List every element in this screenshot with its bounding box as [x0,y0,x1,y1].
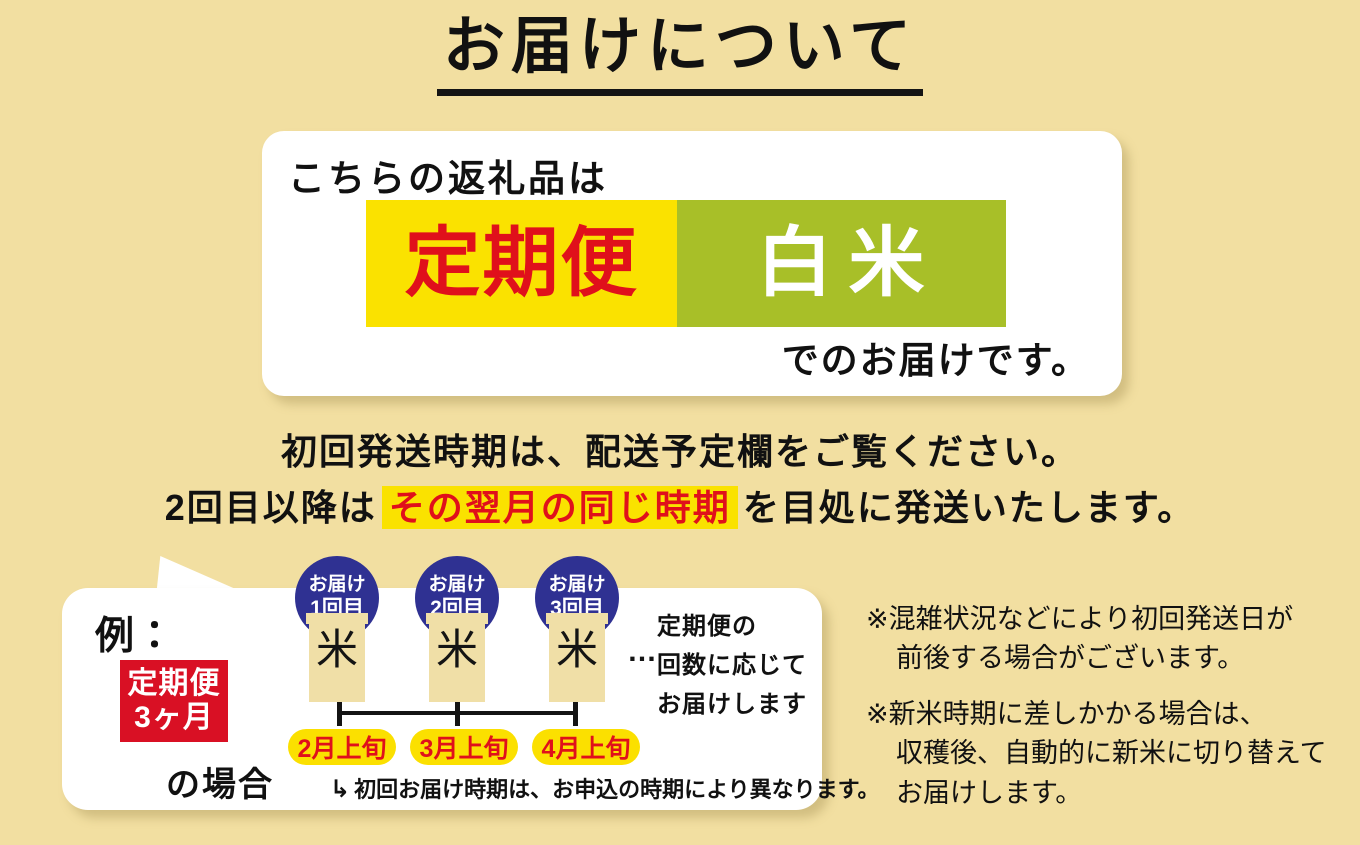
badge-row: 定期便 白米 [366,200,1006,327]
rice-bag-icon-1: 米 [306,613,368,702]
delivery-item-1: お届け 1回目 米 [292,556,382,704]
delivery-timeline [337,700,578,726]
badge-course: 定期便 [366,200,677,327]
shipping-line-2-after: を目処に発送いたします。 [743,487,1195,528]
example-course-line-1: 定期便 [128,667,221,701]
shipping-line-2: 2回目以降はその翌月の同じ時期を目処に発送いたします。 [0,480,1360,536]
ellipsis-icon: … [627,637,659,667]
poster-root: お届けについて こちらの返礼品は 定期便 白米 でのお届けです。 初回発送時期は… [0,0,1360,845]
card-lead-text: こちらの返礼品は [288,148,608,202]
timeline-tick-3 [573,700,578,726]
shipping-description: 初回発送時期は、配送予定欄をご覧ください。 2回目以降はその翌月の同じ時期を目処… [0,424,1360,536]
month-pill-1: 2月上旬 [288,729,396,765]
rice-bag-label-2: 米 [426,629,488,671]
gift-type-card: こちらの返礼品は 定期便 白米 でのお届けです。 [262,131,1122,396]
delivery-badge-3-line-1: お届け [548,574,605,596]
badge-rice-type: 白米 [677,200,1006,327]
note-item-2: ※新米時期に差しかかる場合は、 収穫後、自動的に新米に切り替えて お届けします。 [866,695,1336,813]
example-footnote: ↳初回お届け時期は、お申込の時期により異なります。 [330,772,879,804]
page-title-text: お届けについて [437,14,923,96]
example-label: 例： [95,605,175,661]
example-case-text: の場合 [166,757,274,806]
note-2-line-1: ※新米時期に差しかかる場合は、 [866,695,1336,734]
rice-bag-label-1: 米 [306,629,368,671]
note-1-line-2: 前後する場合がございます。 [866,639,1336,678]
timeline-tick-1 [337,700,342,726]
example-side-note-line-1: 定期便の [657,608,807,647]
rice-bag-icon-2: 米 [426,613,488,702]
month-pill-3: 4月上旬 [532,729,640,765]
notes-list: ※混雑状況などにより初回発送日が 前後する場合がございます。 ※新米時期に差しか… [866,600,1336,829]
delivery-badge-1-line-1: お届け [308,574,365,596]
note-2-line-2: 収穫後、自動的に新米に切り替えて [866,734,1336,773]
example-course-line-2: 3ヶ月 [134,701,214,735]
timeline-tick-2 [455,700,460,726]
example-side-note-line-2: 回数に応じて [657,647,807,686]
page-title: お届けについて [0,14,1360,96]
arrow-down-right-icon: ↳ [330,776,350,803]
shipping-line-1: 初回発送時期は、配送予定欄をご覧ください。 [0,424,1360,480]
rice-bag-icon-3: 米 [546,613,608,702]
note-2-line-3: お届けします。 [866,774,1336,813]
delivery-badge-2-line-1: お届け [428,574,485,596]
card-tail-text: でのお届けです。 [782,330,1090,384]
delivery-item-2: お届け 2回目 米 [412,556,502,704]
shipping-line-2-highlight: その翌月の同じ時期 [382,486,738,529]
example-footnote-text: 初回お届け時期は、お申込の時期により異なります。 [354,777,879,802]
delivery-sequence: お届け 1回目 米 お届け 2回目 米 お届け 3回目 [292,556,622,706]
shipping-line-2-before: 2回目以降は [165,487,377,528]
rice-bag-label-3: 米 [546,629,608,671]
note-item-1: ※混雑状況などにより初回発送日が 前後する場合がございます。 [866,600,1336,679]
example-side-note-line-3: お届けします [657,686,807,725]
note-1-line-1: ※混雑状況などにより初回発送日が [866,600,1336,639]
example-course-badge: 定期便 3ヶ月 [120,660,228,742]
delivery-item-3: お届け 3回目 米 [532,556,622,704]
month-pill-2: 3月上旬 [410,729,518,765]
example-side-note: 定期便の 回数に応じて お届けします [657,608,807,725]
month-pill-row: 2月上旬 3月上旬 4月上旬 [288,729,640,765]
